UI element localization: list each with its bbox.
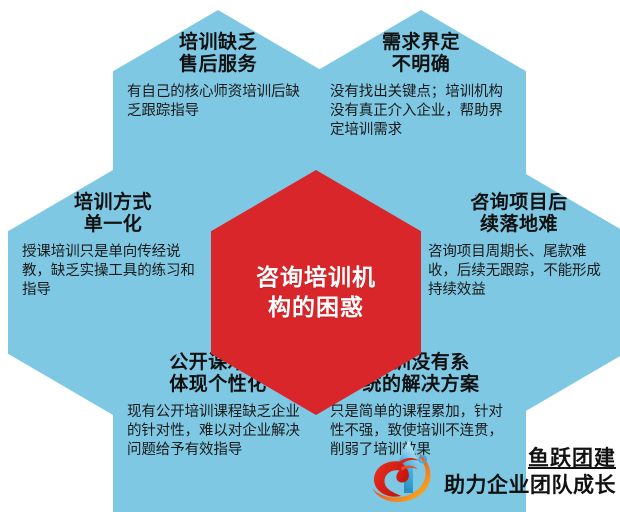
hex-content: 咨询项目后 续落地难 咨询项目周期长、尾款难收，后续无跟踪，不能形成持续效益 [426, 192, 612, 300]
brand-slogan: 助力企业团队成长 [444, 474, 616, 497]
hex-body: 咨询项目周期长、尾款难收，后续无跟踪，不能形成持续效益 [428, 243, 610, 300]
hex-content: 需求界定 不明确 没有找出关键点；培训机构没有真正介入企业，帮助界定培训需求 [328, 32, 514, 140]
hex-body: 没有找出关键点；培训机构没有真正介入企业，帮助界定培训需求 [330, 83, 512, 140]
brand-block: 鱼跃团建 助力企业团队成长 [366, 436, 616, 508]
hex-title: 需求界定 不明确 [330, 32, 512, 77]
hex-body: 现有公开培训课程缺乏企业的针对性，难以对企业解决问题给予有效指导 [127, 403, 309, 460]
fish-dragon-arrow-logo-icon [366, 436, 442, 508]
brand-name: 鱼跃团建 [528, 447, 616, 470]
hex-body: 有自己的核心师资培训后缺乏跟踪指导 [127, 83, 309, 121]
hex-title: 培训缺乏 售后服务 [127, 32, 309, 77]
infographic-canvas: 培训缺乏 售后服务 有自己的核心师资培训后缺乏跟踪指导 需求界定 不明确 没有找… [0, 0, 620, 512]
brand-text: 鱼跃团建 助力企业团队成长 [444, 447, 616, 496]
center-title: 咨询培训机 构的困惑 [256, 263, 376, 322]
hex-body: 授课培训只是单向传经说教，缺乏实操工具的练习和指导 [22, 243, 204, 300]
hex-content: 培训缺乏 售后服务 有自己的核心师资培训后缺乏跟踪指导 [125, 32, 311, 121]
hex-content: 培训方式 单一化 授课培训只是单向传经说教，缺乏实操工具的练习和指导 [20, 192, 206, 300]
